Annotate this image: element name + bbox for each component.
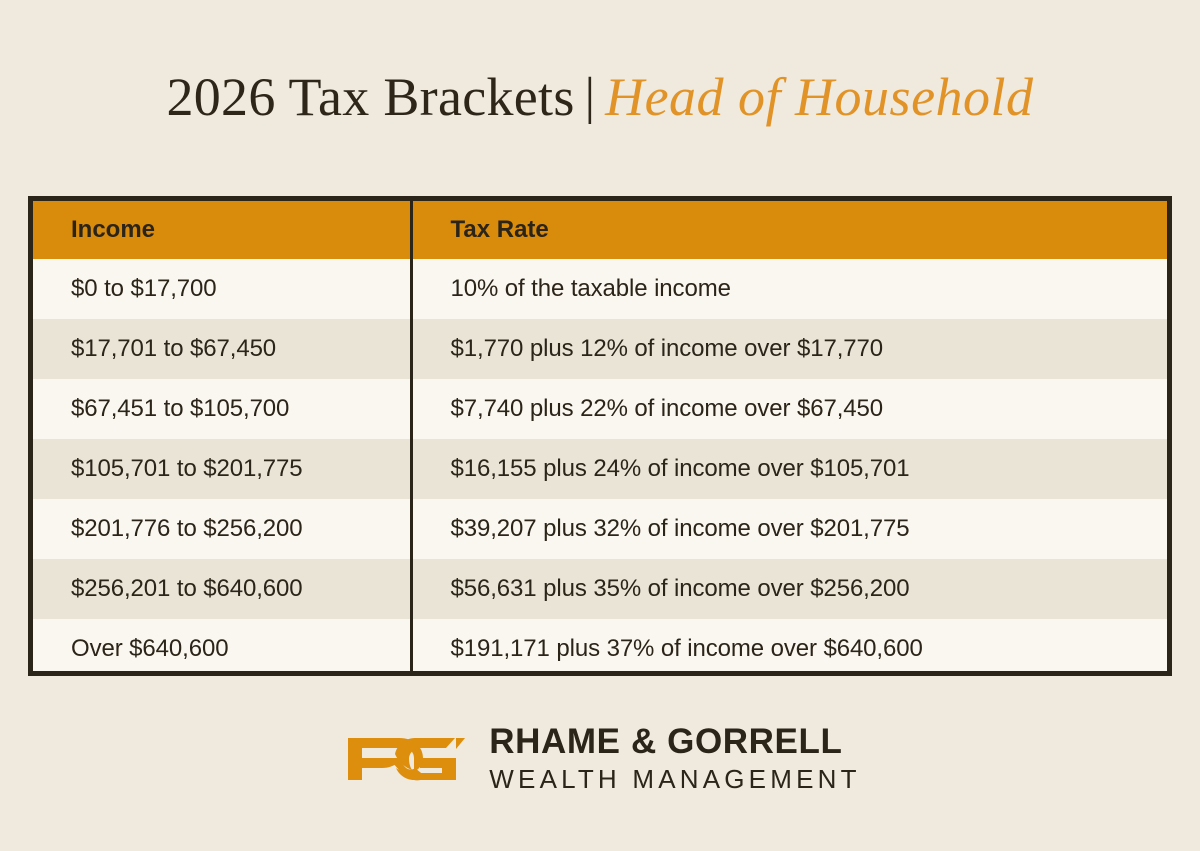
table-header: Income Tax Rate [33, 201, 1167, 259]
cell-income: $105,701 to $201,775 [33, 439, 411, 499]
title-accent-text: Head of Household [605, 67, 1033, 127]
table-row: $201,776 to $256,200 $39,207 plus 32% of… [33, 499, 1167, 559]
cell-tax-rate: $16,155 plus 24% of income over $105,701 [411, 439, 1167, 499]
tax-bracket-table: Income Tax Rate $0 to $17,700 10% of the… [33, 201, 1167, 676]
table-row: $256,201 to $640,600 $56,631 plus 35% of… [33, 559, 1167, 619]
tax-bracket-table-container: Income Tax Rate $0 to $17,700 10% of the… [28, 196, 1172, 676]
table-row: $67,451 to $105,700 $7,740 plus 22% of i… [33, 379, 1167, 439]
cell-tax-rate: $39,207 plus 32% of income over $201,775 [411, 499, 1167, 559]
table-row: Over $640,600 $191,171 plus 37% of incom… [33, 619, 1167, 676]
cell-tax-rate: $56,631 plus 35% of income over $256,200 [411, 559, 1167, 619]
table-header-row: Income Tax Rate [33, 201, 1167, 259]
column-header-tax-rate: Tax Rate [411, 201, 1167, 259]
cell-tax-rate: $1,770 plus 12% of income over $17,770 [411, 319, 1167, 379]
table-row: $105,701 to $201,775 $16,155 plus 24% of… [33, 439, 1167, 499]
title-main-text: 2026 Tax Brackets [166, 67, 574, 127]
cell-income: $201,776 to $256,200 [33, 499, 411, 559]
column-header-income: Income [33, 201, 411, 259]
company-logo: RHAME & GORRELL WEALTH MANAGEMENT [0, 724, 1200, 792]
logo-text-block: RHAME & GORRELL WEALTH MANAGEMENT [489, 724, 860, 792]
rg-monogram-icon [339, 725, 465, 791]
cell-income: $0 to $17,700 [33, 259, 411, 319]
cell-income: $17,701 to $67,450 [33, 319, 411, 379]
cell-income: $256,201 to $640,600 [33, 559, 411, 619]
table-row: $17,701 to $67,450 $1,770 plus 12% of in… [33, 319, 1167, 379]
title-separator: | [575, 68, 605, 125]
logo-company-name: RHAME & GORRELL [489, 724, 860, 759]
table-row: $0 to $17,700 10% of the taxable income [33, 259, 1167, 319]
cell-income: $67,451 to $105,700 [33, 379, 411, 439]
page-title: 2026 Tax Brackets|Head of Household [0, 66, 1200, 128]
logo-tagline: WEALTH MANAGEMENT [489, 766, 860, 792]
cell-income: Over $640,600 [33, 619, 411, 676]
cell-tax-rate: $7,740 plus 22% of income over $67,450 [411, 379, 1167, 439]
cell-tax-rate: $191,171 plus 37% of income over $640,60… [411, 619, 1167, 676]
cell-tax-rate: 10% of the taxable income [411, 259, 1167, 319]
table-body: $0 to $17,700 10% of the taxable income … [33, 259, 1167, 676]
